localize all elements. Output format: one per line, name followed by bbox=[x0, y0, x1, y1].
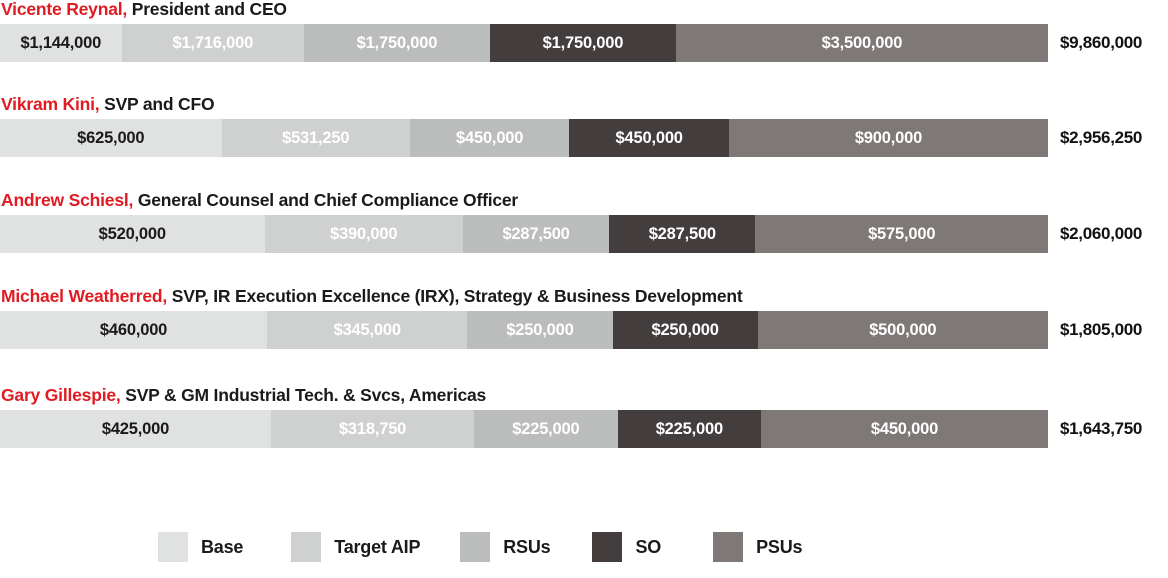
bar-segment-so: $1,750,000 bbox=[490, 24, 676, 62]
legend-item-rsu[interactable]: RSUs bbox=[460, 532, 550, 562]
exec-title: General Counsel and Chief Compliance Off… bbox=[138, 190, 518, 210]
bar-row: $1,144,000$1,716,000$1,750,000$1,750,000… bbox=[0, 24, 1142, 62]
stacked-bar: $460,000$345,000$250,000$250,000$500,000 bbox=[0, 311, 1048, 349]
row-total: $1,805,000 bbox=[1048, 320, 1142, 340]
bar-segment-rsu: $250,000 bbox=[467, 311, 612, 349]
bar-segment-psu: $900,000 bbox=[729, 119, 1048, 157]
legend-item-psu[interactable]: PSUs bbox=[713, 532, 802, 562]
stacked-bar: $425,000$318,750$225,000$225,000$450,000 bbox=[0, 410, 1048, 448]
bar-segment-aip: $390,000 bbox=[265, 215, 463, 253]
bar-segment-aip: $318,750 bbox=[271, 410, 474, 448]
legend-swatch-rsu bbox=[460, 532, 490, 562]
exec-header: Vikram Kini, SVP and CFO bbox=[0, 96, 214, 114]
exec-name: Andrew Schiesl, bbox=[1, 190, 133, 210]
bar-segment-so: $450,000 bbox=[569, 119, 729, 157]
bar-segment-rsu: $287,500 bbox=[463, 215, 609, 253]
bar-row: $460,000$345,000$250,000$250,000$500,000… bbox=[0, 311, 1142, 349]
exec-title: President and CEO bbox=[132, 0, 287, 19]
legend-label: PSUs bbox=[756, 537, 802, 558]
exec-name: Vicente Reynal, bbox=[1, 0, 127, 19]
bar-segment-base: $520,000 bbox=[0, 215, 265, 253]
exec-header: Andrew Schiesl, General Counsel and Chie… bbox=[0, 192, 518, 210]
bar-row: $520,000$390,000$287,500$287,500$575,000… bbox=[0, 215, 1142, 253]
exec-header: Vicente Reynal, President and CEO bbox=[0, 1, 287, 19]
bar-segment-so: $250,000 bbox=[613, 311, 758, 349]
exec-header: Gary Gillespie, SVP & GM Industrial Tech… bbox=[0, 387, 486, 405]
bar-segment-so: $287,500 bbox=[609, 215, 755, 253]
stacked-bar: $625,000$531,250$450,000$450,000$900,000 bbox=[0, 119, 1048, 157]
row-total: $1,643,750 bbox=[1048, 419, 1142, 439]
bar-segment-aip: $345,000 bbox=[267, 311, 467, 349]
exec-name: Vikram Kini, bbox=[1, 94, 99, 114]
bar-segment-psu: $575,000 bbox=[755, 215, 1048, 253]
bar-segment-rsu: $1,750,000 bbox=[304, 24, 490, 62]
stacked-bar: $520,000$390,000$287,500$287,500$575,000 bbox=[0, 215, 1048, 253]
bar-segment-base: $625,000 bbox=[0, 119, 222, 157]
row-total: $2,956,250 bbox=[1048, 128, 1142, 148]
row-total: $9,860,000 bbox=[1048, 33, 1142, 53]
exec-name: Michael Weatherred, bbox=[1, 286, 167, 306]
bar-segment-psu: $3,500,000 bbox=[676, 24, 1048, 62]
legend-item-so[interactable]: SO bbox=[592, 532, 661, 562]
bar-row: $625,000$531,250$450,000$450,000$900,000… bbox=[0, 119, 1142, 157]
legend-label: RSUs bbox=[503, 537, 550, 558]
legend-label: Target AIP bbox=[334, 537, 420, 558]
bar-segment-base: $1,144,000 bbox=[0, 24, 122, 62]
stacked-bar: $1,144,000$1,716,000$1,750,000$1,750,000… bbox=[0, 24, 1048, 62]
exec-name: Gary Gillespie, bbox=[1, 385, 121, 405]
legend-swatch-so bbox=[592, 532, 622, 562]
chart-legend: BaseTarget AIPRSUsSOPSUs bbox=[0, 532, 802, 562]
legend-swatch-aip bbox=[291, 532, 321, 562]
bar-segment-psu: $450,000 bbox=[761, 410, 1048, 448]
bar-segment-base: $425,000 bbox=[0, 410, 271, 448]
legend-item-aip[interactable]: Target AIP bbox=[291, 532, 420, 562]
bar-segment-so: $225,000 bbox=[618, 410, 761, 448]
exec-title: SVP & GM Industrial Tech. & Svcs, Americ… bbox=[125, 385, 486, 405]
bar-segment-aip: $1,716,000 bbox=[122, 24, 304, 62]
bar-segment-psu: $500,000 bbox=[758, 311, 1048, 349]
legend-swatch-base bbox=[158, 532, 188, 562]
legend-label: Base bbox=[201, 537, 243, 558]
legend-item-base[interactable]: Base bbox=[158, 532, 243, 562]
exec-header: Michael Weatherred, SVP, IR Execution Ex… bbox=[0, 288, 743, 306]
bar-segment-rsu: $450,000 bbox=[410, 119, 570, 157]
legend-swatch-psu bbox=[713, 532, 743, 562]
bar-segment-aip: $531,250 bbox=[222, 119, 410, 157]
exec-title: SVP and CFO bbox=[104, 94, 214, 114]
legend-label: SO bbox=[635, 537, 661, 558]
bar-segment-rsu: $225,000 bbox=[474, 410, 617, 448]
compensation-mix-chart: Vicente Reynal, President and CEO$1,144,… bbox=[0, 0, 1168, 578]
row-total: $2,060,000 bbox=[1048, 224, 1142, 244]
exec-title: SVP, IR Execution Excellence (IRX), Stra… bbox=[172, 286, 743, 306]
bar-row: $425,000$318,750$225,000$225,000$450,000… bbox=[0, 410, 1142, 448]
bar-segment-base: $460,000 bbox=[0, 311, 267, 349]
